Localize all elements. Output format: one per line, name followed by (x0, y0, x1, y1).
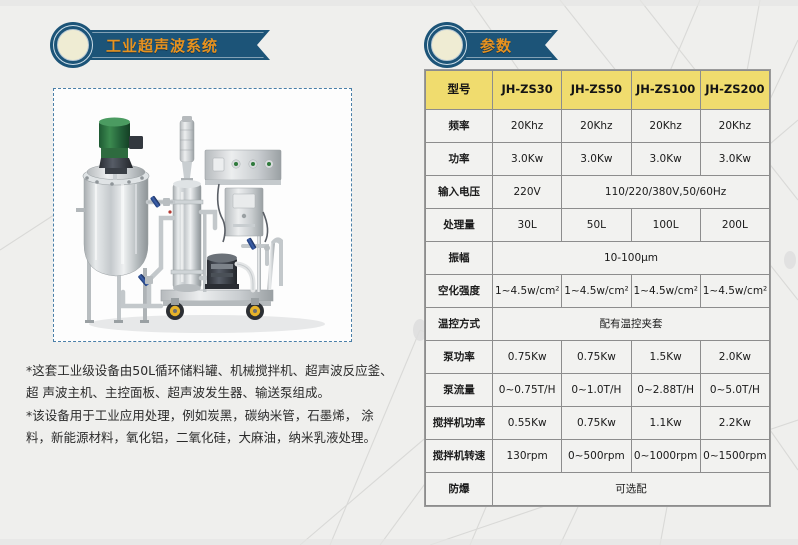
spec-sheet-page: 工业超声波系统 参数 (0, 0, 798, 545)
spec-cell: 0~2.88T/H (631, 374, 700, 407)
banner-industrial-ultrasonic-system: 工业超声波系统 (44, 22, 294, 68)
spec-row-label: 功率 (426, 143, 493, 176)
spec-cell: 1~4.5w/cm² (562, 275, 631, 308)
spec-table-row: 泵流量0~0.75T/H0~1.0T/H0~2.88T/H0~5.0T/H (426, 374, 770, 407)
spec-cell: 0~500rpm (562, 440, 631, 473)
spec-cell: 0~5.0T/H (700, 374, 769, 407)
spec-row-label: 搅拌机功率 (426, 407, 493, 440)
spec-cell: 2.0Kw (700, 341, 769, 374)
spec-row-label: 泵功率 (426, 341, 493, 374)
spec-table-row: 搅拌机功率0.55Kw0.75Kw1.1Kw2.2Kw (426, 407, 770, 440)
spec-cell: 50L (562, 209, 631, 242)
spec-table-row: 温控方式配有温控夹套 (426, 308, 770, 341)
spec-table-row: 泵功率0.75Kw0.75Kw1.5Kw2.0Kw (426, 341, 770, 374)
circle-badge-icon (50, 22, 96, 68)
spec-table-row: 防爆可选配 (426, 473, 770, 506)
spec-row-label: 输入电压 (426, 176, 493, 209)
header-cell-model-JH-ZS100: JH-ZS100 (631, 71, 700, 110)
spec-table-row: 搅拌机转速130rpm0~500rpm0~1000rpm0~1500rpm (426, 440, 770, 473)
spec-table-row: 空化强度1~4.5w/cm²1~4.5w/cm²1~4.5w/cm²1~4.5w… (426, 275, 770, 308)
description-line-2: *该设备用于工业应用处理，例如炭黑，碳纳米管，石墨烯， 涂料，新能源材料，氧化铝… (26, 405, 394, 450)
header-cell-model-JH-ZS200: JH-ZS200 (700, 71, 769, 110)
header-cell-model-JH-ZS50: JH-ZS50 (562, 71, 631, 110)
spec-table-row: 功率3.0Kw3.0Kw3.0Kw3.0Kw (426, 143, 770, 176)
spec-table-body: 型号JH-ZS30JH-ZS50JH-ZS100JH-ZS200频率20Khz2… (426, 71, 770, 506)
spec-cell: 0~1000rpm (631, 440, 700, 473)
spec-cell: 1~4.5w/cm² (700, 275, 769, 308)
circle-badge-icon (424, 22, 470, 68)
spec-row-label: 空化强度 (426, 275, 493, 308)
spec-cell: 30L (493, 209, 562, 242)
spec-table-row: 输入电压220V110/220/380V,50/60Hz (426, 176, 770, 209)
spec-cell: 110/220/380V,50/60Hz (562, 176, 770, 209)
spec-cell: 3.0Kw (493, 143, 562, 176)
badge-core (57, 29, 89, 61)
description-block: *这套工业级设备由50L循环储料罐、机械搅拌机、超声波反应釜、超 声波主机、主控… (26, 360, 394, 449)
spec-table-row: 频率20Khz20Khz20Khz20Khz (426, 110, 770, 143)
spec-cell: 3.0Kw (562, 143, 631, 176)
header-cell-model-JH-ZS30: JH-ZS30 (493, 71, 562, 110)
spec-cell: 130rpm (493, 440, 562, 473)
spec-cell: 220V (493, 176, 562, 209)
spec-table-wrapper: 型号JH-ZS30JH-ZS50JH-ZS100JH-ZS200频率20Khz2… (425, 70, 770, 506)
banner-left-ribbon: 工业超声波系统 (66, 30, 270, 60)
spec-cell: 1.5Kw (631, 341, 700, 374)
spec-row-label: 防爆 (426, 473, 493, 506)
banner-parameters: 参数 (418, 22, 578, 68)
spec-cell: 0.75Kw (562, 341, 631, 374)
badge-core (431, 29, 463, 61)
spec-cell: 100L (631, 209, 700, 242)
product-photo-frame (53, 88, 352, 342)
spec-cell: 可选配 (493, 473, 770, 506)
banner-right-title: 参数 (480, 35, 512, 56)
spec-cell: 3.0Kw (631, 143, 700, 176)
product-photo (57, 92, 348, 338)
spec-cell: 20Khz (700, 110, 769, 143)
spec-cell: 20Khz (562, 110, 631, 143)
spec-cell: 20Khz (493, 110, 562, 143)
spec-cell: 3.0Kw (700, 143, 769, 176)
spec-cell: 1~4.5w/cm² (631, 275, 700, 308)
spec-row-label: 频率 (426, 110, 493, 143)
spec-cell: 0.55Kw (493, 407, 562, 440)
spec-table-row: 振幅10-100μm (426, 242, 770, 275)
header-cell-model-label: 型号 (426, 71, 493, 110)
spec-cell: 0~1.0T/H (562, 374, 631, 407)
spec-row-label: 温控方式 (426, 308, 493, 341)
spec-cell: 10-100μm (493, 242, 770, 275)
ultrasonic-reactor-system-illustration (57, 92, 348, 338)
spec-table-row: 处理量30L50L100L200L (426, 209, 770, 242)
spec-cell: 0.75Kw (562, 407, 631, 440)
spec-cell: 200L (700, 209, 769, 242)
spec-cell: 0~0.75T/H (493, 374, 562, 407)
spec-row-label: 泵流量 (426, 374, 493, 407)
banner-left-title: 工业超声波系统 (106, 35, 218, 56)
spec-cell: 0~1500rpm (700, 440, 769, 473)
spec-row-label: 振幅 (426, 242, 493, 275)
spec-cell: 0.75Kw (493, 341, 562, 374)
spec-cell: 配有温控夹套 (493, 308, 770, 341)
spec-cell: 20Khz (631, 110, 700, 143)
description-line-1: *这套工业级设备由50L循环储料罐、机械搅拌机、超声波反应釜、超 声波主机、主控… (26, 360, 394, 405)
spec-table: 型号JH-ZS30JH-ZS50JH-ZS100JH-ZS200频率20Khz2… (425, 70, 770, 506)
spec-row-label: 处理量 (426, 209, 493, 242)
spec-cell: 1.1Kw (631, 407, 700, 440)
spec-row-label: 搅拌机转速 (426, 440, 493, 473)
spec-cell: 1~4.5w/cm² (493, 275, 562, 308)
spec-cell: 2.2Kw (700, 407, 769, 440)
spec-table-header-row: 型号JH-ZS30JH-ZS50JH-ZS100JH-ZS200 (426, 71, 770, 110)
